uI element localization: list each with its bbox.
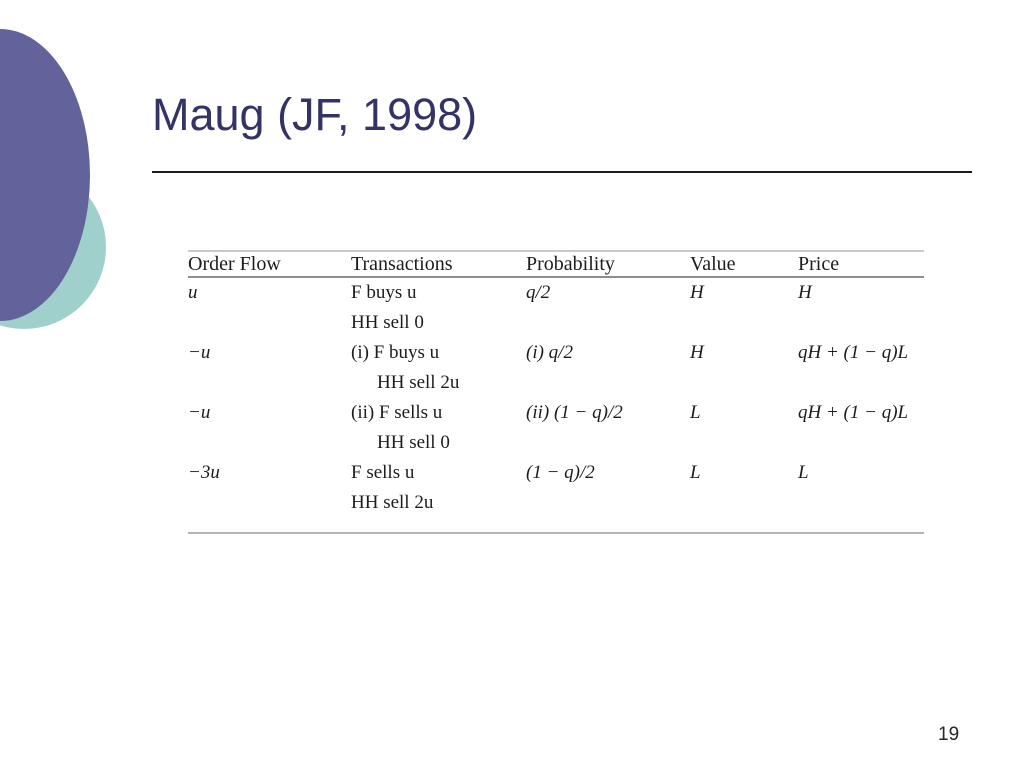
cell-transactions-line2: HH sell 2u <box>351 368 526 398</box>
cell-transactions-line2: HH sell 2u <box>351 488 526 518</box>
table-bottom-rule <box>188 532 924 534</box>
cell-value: L <box>690 462 701 483</box>
column-header-value: Value <box>690 252 798 276</box>
table-row: u F buys u HH sell 0 q/2 H H <box>188 278 924 338</box>
cell-transactions-line1: (i) F buys u <box>351 338 526 368</box>
cell-transactions-line1: F sells u <box>351 458 526 488</box>
cell-order-flow: −u <box>188 402 210 423</box>
order-flow-table: Order Flow Transactions Probability Valu… <box>188 252 924 276</box>
cell-value: H <box>690 342 704 363</box>
order-flow-table-body: u F buys u HH sell 0 q/2 H H −u (i) F bu… <box>188 278 924 518</box>
cell-order-flow: u <box>188 282 198 303</box>
page-number: 19 <box>938 724 959 746</box>
column-header-probability: Probability <box>526 252 690 276</box>
cell-transactions-line2: HH sell 0 <box>351 428 526 458</box>
teal-circle-shape <box>0 165 106 329</box>
page-title: Maug (JF, 1998) <box>152 86 972 144</box>
cell-transactions-line1: (ii) F sells u <box>351 398 526 428</box>
table-body: u F buys u HH sell 0 q/2 H H −u (i) F bu… <box>188 278 924 518</box>
cell-probability: (i) q/2 <box>526 342 573 363</box>
cell-value: L <box>690 402 701 423</box>
title-block: Maug (JF, 1998) <box>152 86 972 144</box>
cell-price: qH + (1 − q)L <box>798 342 908 363</box>
table-row: −3u F sells u HH sell 2u (1 − q)/2 L L <box>188 458 924 518</box>
column-header-transactions: Transactions <box>351 252 526 276</box>
column-header-price: Price <box>798 252 924 276</box>
paper-table-figure: Order Flow Transactions Probability Valu… <box>188 250 924 534</box>
cell-transactions-line2: HH sell 0 <box>351 308 526 338</box>
table-row: −u (ii) F sells u HH sell 0 (ii) (1 − q)… <box>188 398 924 458</box>
cell-price: H <box>798 282 812 303</box>
decorative-circles <box>0 0 180 400</box>
cell-order-flow: −3u <box>188 462 220 483</box>
title-underline-rule <box>152 171 972 173</box>
table-row: −u (i) F buys u HH sell 2u (i) q/2 H qH … <box>188 338 924 398</box>
cell-probability: (1 − q)/2 <box>526 462 595 483</box>
cell-value: H <box>690 282 704 303</box>
cell-price: qH + (1 − q)L <box>798 402 908 423</box>
column-header-order-flow: Order Flow <box>188 252 351 276</box>
cell-probability: (ii) (1 − q)/2 <box>526 402 623 423</box>
cell-transactions-line1: F buys u <box>351 278 526 308</box>
slide-canvas: Maug (JF, 1998) Order Flow Transactions … <box>0 0 1024 768</box>
cell-probability: q/2 <box>526 282 550 303</box>
cell-price: L <box>798 462 809 483</box>
table-header-row: Order Flow Transactions Probability Valu… <box>188 252 924 276</box>
table-header: Order Flow Transactions Probability Valu… <box>188 252 924 276</box>
purple-circle-shape <box>0 29 90 321</box>
cell-order-flow: −u <box>188 342 210 363</box>
